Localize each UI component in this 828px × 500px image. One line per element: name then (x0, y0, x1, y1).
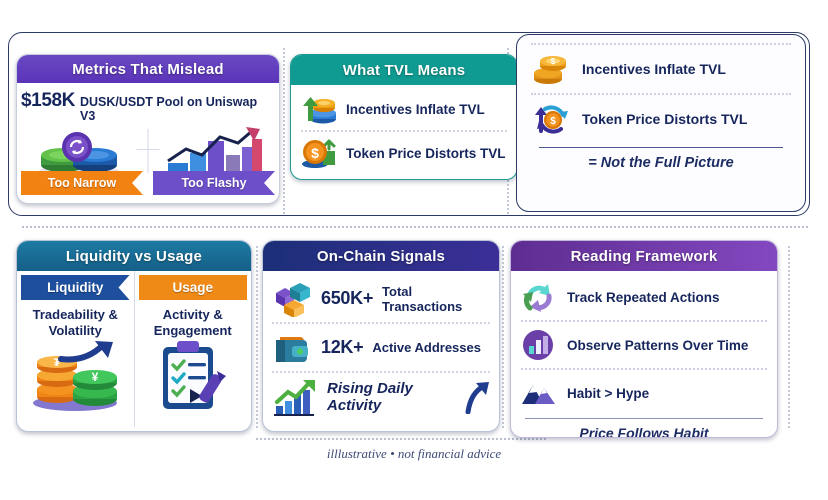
reading-row-track-actions[interactable]: Track Repeated Actions (511, 274, 777, 320)
metric-ribbons: Too Narrow Too Flashy (17, 171, 279, 195)
panel-tvl-summary: $ Incentives Inflate TVL $ Token Price D… (516, 34, 806, 212)
bar-chart-up-arrow-icon (160, 125, 264, 177)
summary-row-incentives[interactable]: $ Incentives Inflate TVL (517, 45, 805, 93)
tvl-label-incentives: Incentives Inflate TVL (346, 102, 485, 117)
infographic-canvas: Metrics That Mislead $158K DUSK/USDT Poo… (0, 0, 828, 500)
summary-label-incentives: Incentives Inflate TVL (582, 61, 726, 77)
column-divider-bottom-3 (788, 246, 790, 428)
card-metrics-that-mislead: Metrics That Mislead $158K DUSK/USDT Poo… (16, 54, 280, 204)
reading-label-habit-hype: Habit > Hype (567, 386, 649, 401)
card-title-liquidity: Liquidity vs Usage (17, 241, 251, 271)
usage-text-line2: Engagement (154, 323, 232, 338)
card-title-tvl: What TVL Means (291, 55, 517, 85)
checklist-clipboard-pen-icon (147, 339, 239, 413)
bar-chart-circle-icon (521, 328, 557, 362)
coins-up-arrow-icon (301, 93, 337, 125)
signal-label-addresses: Active Addresses (372, 340, 481, 355)
signal-label-transactions: Total Transactions (382, 284, 490, 314)
row-divider (22, 226, 808, 228)
plus-divider-icon (148, 129, 149, 173)
card-on-chain-signals: On-Chain Signals 650K+ Total Transaction… (262, 240, 500, 432)
summary-label-token-price: Token Price Distorts TVL (582, 111, 747, 127)
reading-conclusion: Price Follows Habit (511, 419, 777, 438)
dollar-coin-up-icon: $ (301, 137, 337, 169)
signal-row-daily-activity[interactable]: Rising Daily Activity (263, 373, 499, 420)
usage-text-line1: Activity & (163, 307, 223, 322)
ribbon-too-narrow[interactable]: Too Narrow (21, 171, 143, 195)
column-divider-bottom-2 (502, 246, 504, 428)
signal-row-transactions[interactable]: 650K+ Total Transactions (263, 275, 499, 322)
gold-coins-icon: $ (531, 52, 571, 86)
tvl-label-token-price: Token Price Distorts TVL (346, 146, 506, 161)
liquidity-usage-split: Liquidity Tradeability & Volatility (17, 271, 251, 427)
rising-bars-arrow-icon (272, 378, 318, 416)
metric-caption: DUSK/USDT Pool on Uniswap V3 (80, 95, 275, 123)
card-liquidity-vs-usage: Liquidity vs Usage Liquidity Tradeabilit… (16, 240, 252, 432)
reading-label-track-actions: Track Repeated Actions (567, 290, 720, 305)
cycle-dollar-icon: $ (531, 101, 571, 137)
coin-stacks-arrow-icon: ₮ ¥ (21, 339, 129, 413)
usage-text: Activity & Engagement (135, 300, 252, 339)
summary-conclusion: = Not the Full Picture (517, 148, 805, 171)
sub-ribbon-liquidity[interactable]: Liquidity (21, 275, 130, 300)
column-divider-top-1 (283, 48, 285, 214)
signal-label-daily-activity: Rising Daily Activity (327, 380, 455, 414)
signal-value-addresses: 12K+ (321, 337, 363, 358)
mountains-icon (521, 378, 557, 408)
blocks-cubes-icon (272, 281, 312, 317)
signals-rows: 650K+ Total Transactions 12K+ Active Add… (263, 271, 499, 420)
footer-divider (256, 438, 546, 440)
tvl-row-incentives[interactable]: Incentives Inflate TVL (291, 88, 517, 130)
metric-headline: $158K DUSK/USDT Pool on Uniswap V3 (17, 83, 279, 125)
ribbon-too-flashy[interactable]: Too Flashy (153, 171, 275, 195)
signal-row-addresses[interactable]: 12K+ Active Addresses (263, 324, 499, 371)
reading-label-observe-patterns: Observe Patterns Over Time (567, 338, 748, 353)
reading-rows: Track Repeated Actions Observe Patterns … (511, 271, 777, 438)
svg-text:¥: ¥ (92, 370, 99, 384)
svg-text:$: $ (311, 145, 319, 161)
card-reading-framework: Reading Framework Track Repeated Actions (510, 240, 778, 438)
cycle-arrows-icon (521, 280, 557, 314)
signal-value-transactions: 650K+ (321, 288, 373, 309)
reading-row-observe-patterns[interactable]: Observe Patterns Over Time (511, 322, 777, 368)
reading-row-habit-hype[interactable]: Habit > Hype (511, 370, 777, 416)
svg-text:$: $ (551, 57, 556, 66)
coin-stack-refresh-icon (33, 125, 129, 177)
upward-curve-arrow-icon (464, 380, 490, 414)
sub-ribbon-usage[interactable]: Usage (139, 275, 248, 300)
svg-text:$: $ (550, 116, 556, 127)
tvl-row-token-price[interactable]: $ Token Price Distorts TVL (291, 132, 517, 174)
liquidity-text-line1: Tradeability & (33, 307, 118, 322)
column-usage: Usage Activity & Engagement (134, 271, 252, 427)
column-liquidity: Liquidity Tradeability & Volatility (17, 271, 134, 427)
tvl-rows: Incentives Inflate TVL $ Token Price Dis… (291, 85, 517, 174)
column-divider-bottom-1 (256, 246, 258, 428)
summary-row-token-price[interactable]: $ Token Price Distorts TVL (517, 95, 805, 143)
card-title-metrics: Metrics That Mislead (17, 55, 279, 83)
liquidity-text-line2: Volatility (49, 323, 102, 338)
liquidity-text: Tradeability & Volatility (17, 300, 134, 339)
footer-disclaimer: illlustrative • not financial advice (0, 446, 828, 462)
metric-amount: $158K (21, 90, 75, 112)
card-what-tvl-means: What TVL Means Incentives Inflate TVL (290, 54, 518, 180)
card-title-reading: Reading Framework (511, 241, 777, 271)
metric-caption-pre: DUSK/USDT Pool on (80, 95, 206, 109)
card-title-signals: On-Chain Signals (263, 241, 499, 271)
wallet-icon (272, 331, 312, 365)
